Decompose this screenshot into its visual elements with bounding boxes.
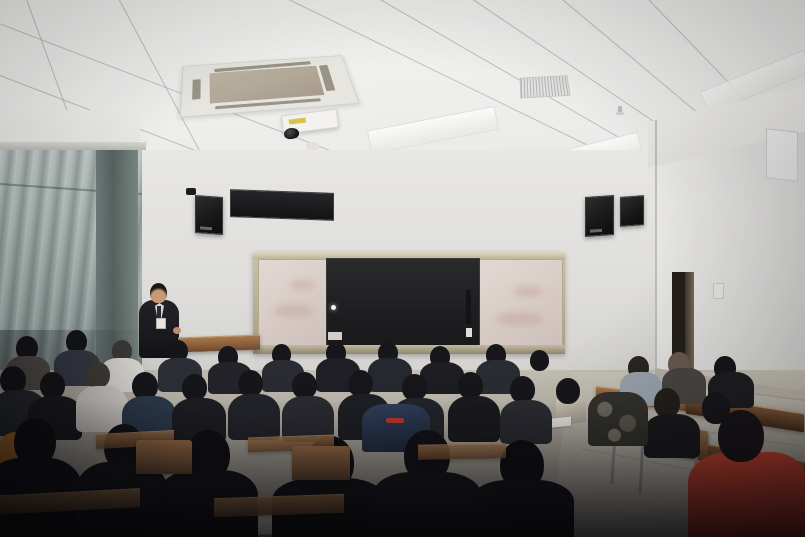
jacket-logo (386, 418, 404, 423)
lecture-hall-photo (0, 0, 805, 537)
projection-screen[interactable] (326, 258, 480, 350)
presenter-badge (156, 318, 166, 329)
curtain-track (0, 142, 146, 150)
student-head (458, 372, 483, 399)
student-head (402, 374, 427, 401)
light-switch-plate[interactable] (713, 283, 724, 299)
sprinkler-icon (618, 106, 622, 114)
wall-sign (766, 128, 798, 181)
dark-wall-panel (230, 189, 334, 221)
board-bottom-rail (253, 345, 565, 354)
student-head (40, 372, 65, 399)
light-panel (367, 106, 499, 154)
chair-back (136, 440, 192, 474)
student-body (644, 414, 700, 458)
student-head (718, 410, 764, 462)
screen-side-button[interactable] (466, 328, 472, 337)
whiteboard-panel-right[interactable] (478, 259, 563, 348)
presenter-hand (173, 327, 181, 334)
screen-power-led-icon (331, 305, 336, 310)
projector-label (289, 118, 306, 125)
student-head (530, 350, 549, 371)
student-head (348, 370, 373, 397)
student-body (228, 394, 280, 440)
student-head (510, 376, 535, 403)
desk-row (418, 443, 506, 460)
ventilation-grille (520, 75, 571, 98)
student-head (182, 374, 207, 401)
wall-speaker-right-large (585, 195, 614, 237)
wall-camera-icon (186, 188, 196, 195)
student-body (500, 400, 552, 444)
student-head (238, 370, 263, 397)
whiteboard-panel-left[interactable] (258, 259, 328, 348)
student-head (556, 378, 580, 404)
screen-control-panel[interactable] (328, 332, 342, 340)
presenter-head (150, 283, 167, 303)
wall-speaker-left (195, 195, 223, 235)
student-body (470, 480, 574, 537)
student-head (292, 372, 317, 399)
student-body (372, 472, 482, 537)
screen-side-strip (466, 290, 471, 324)
student-red-jacket (688, 452, 805, 537)
student-camo-jacket (588, 392, 648, 446)
chair-back (292, 446, 350, 480)
wall-speaker-right-small (620, 195, 644, 227)
student-body (448, 396, 500, 442)
student-head (86, 362, 110, 388)
